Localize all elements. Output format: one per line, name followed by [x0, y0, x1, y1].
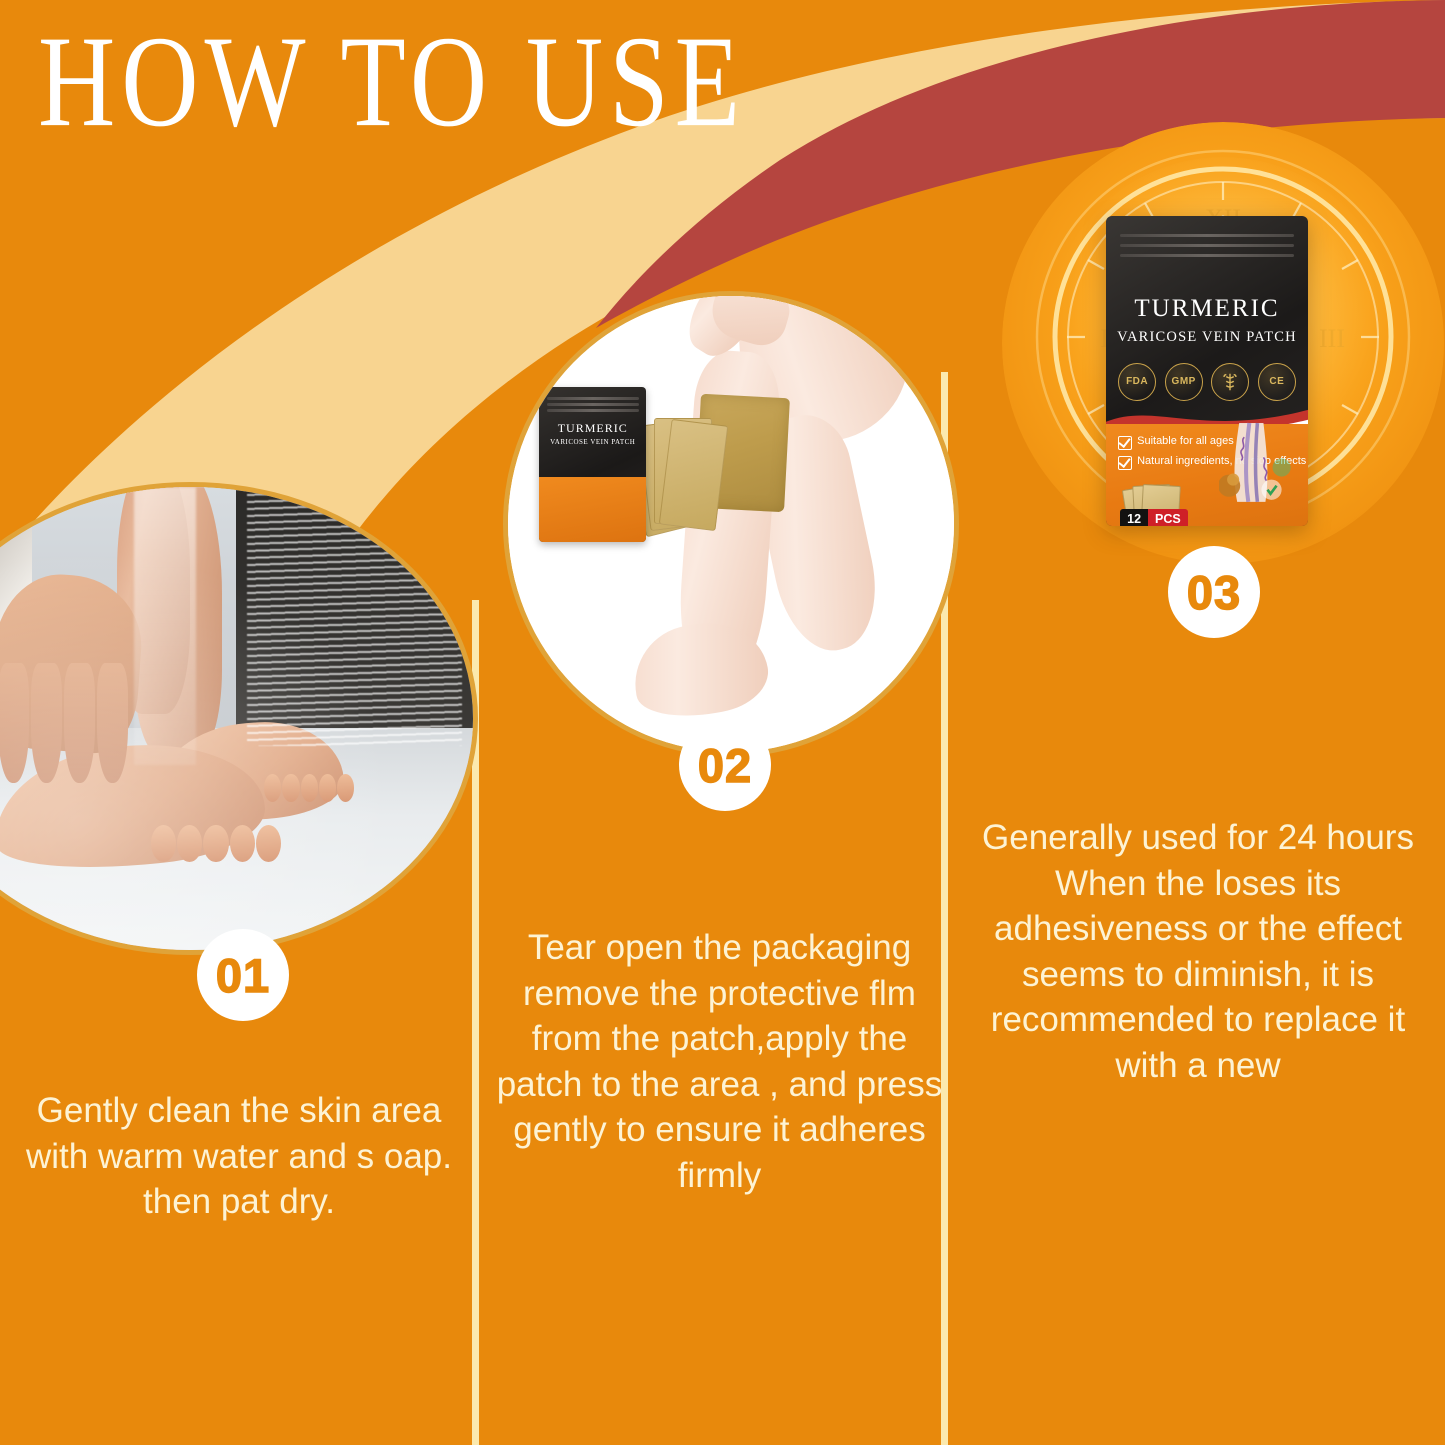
infographic-canvas: HOW TO USE 01: [0, 0, 1445, 1445]
column-divider-left: [472, 600, 479, 1445]
step-number-badge-01: 01: [197, 929, 289, 1021]
checkbox-icon: [1118, 436, 1132, 450]
package-lower-panel-small: [539, 477, 646, 542]
small-product-package: TURMERIC VARICOSE VEIN PATCH: [539, 387, 646, 542]
step-02-image: TURMERIC VARICOSE VEIN PATCH: [508, 296, 954, 752]
step-03-description: Generally used for 24 hours When the los…: [958, 815, 1438, 1088]
wet-gloss-overlay: [0, 487, 473, 950]
step-01-description: Gently clean the skin area with warm wat…: [8, 1088, 470, 1225]
step-number-badge-03: 03: [1168, 546, 1260, 638]
package-subtitle-small: VARICOSE VEIN PATCH: [539, 438, 646, 446]
loose-patches-fan: [633, 415, 722, 534]
product-package: TURMERIC VARICOSE VEIN PATCH FDA GMP CE …: [1106, 216, 1308, 526]
step-02-description: Tear open the packaging remove the prote…: [492, 925, 947, 1198]
package-brand-small: TURMERIC: [539, 421, 646, 436]
step-01-image: [0, 487, 473, 950]
shower-scene: [0, 487, 473, 950]
package-feature-1: Suitable for all ages: [1118, 435, 1234, 450]
checkbox-icon: [1118, 456, 1132, 470]
page-title: HOW TO USE: [38, 8, 746, 158]
package-subtitle: VARICOSE VEIN PATCH: [1106, 329, 1308, 346]
package-brand: TURMERIC: [1106, 295, 1308, 323]
zip-seal: [1120, 228, 1294, 265]
zip-seal: [547, 393, 639, 415]
package-count-badge: 12 PCS: [1120, 509, 1188, 526]
step-number-badge-02: 02: [679, 719, 771, 811]
svg-text:III: III: [1319, 324, 1345, 353]
vein-leg-illustration: [1219, 402, 1300, 523]
